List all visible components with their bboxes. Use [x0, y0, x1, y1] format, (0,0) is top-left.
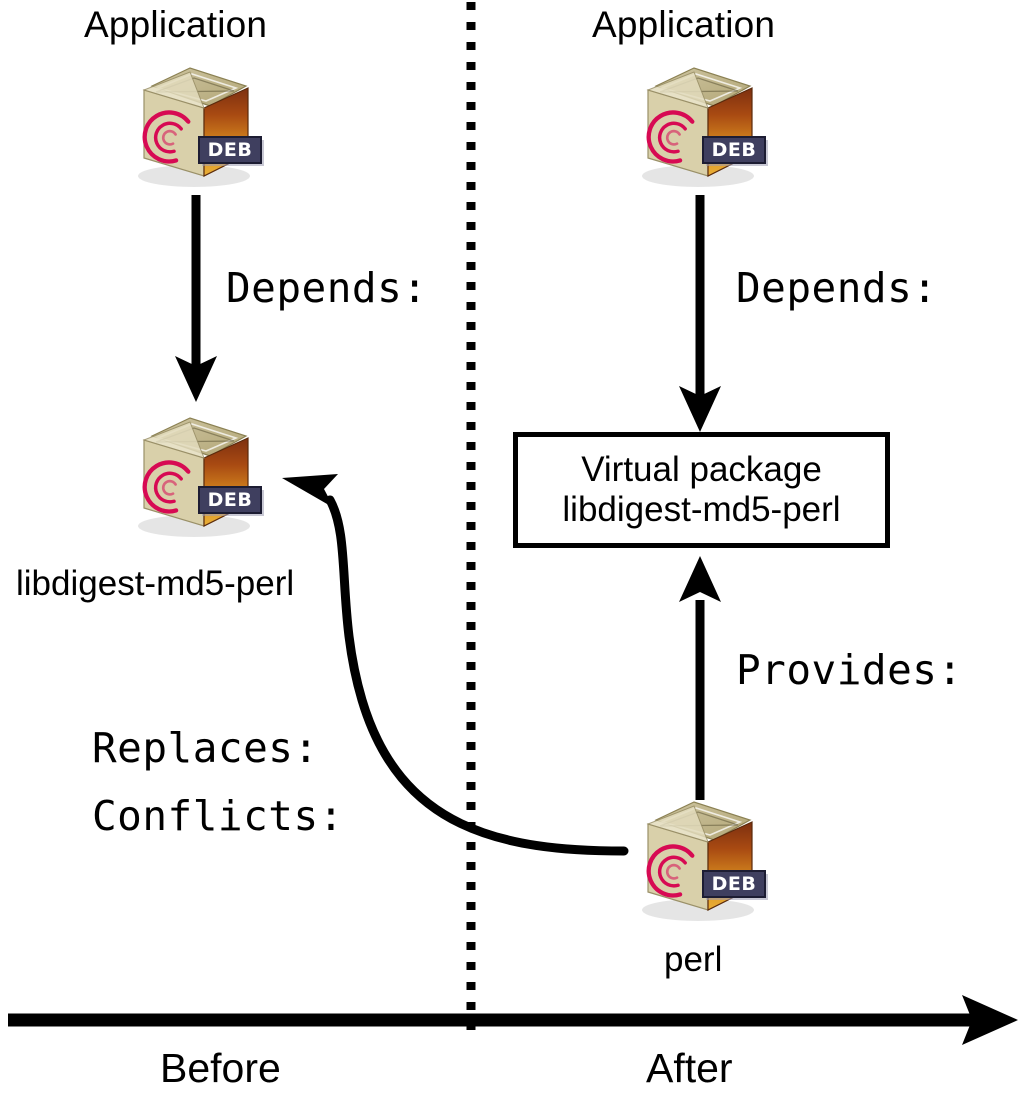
- conflicts-label: Conflicts:: [92, 796, 344, 837]
- libdigest-md5-perl-package-icon: [138, 418, 264, 537]
- before-column-heading: Application: [84, 6, 267, 43]
- timeline-axis: [8, 995, 1018, 1045]
- perl-package-label: perl: [664, 942, 722, 977]
- after-depends-arrow: [679, 195, 721, 432]
- app-package-icon-after: [642, 68, 768, 187]
- provides-label: Provides:: [736, 650, 963, 691]
- app-package-icon-before: [138, 68, 264, 187]
- provides-arrow: [679, 556, 721, 800]
- perl-package-icon: [642, 802, 768, 921]
- axis-label-after: After: [646, 1048, 733, 1089]
- before-depends-label: Depends:: [226, 268, 427, 309]
- after-depends-label: Depends:: [736, 268, 937, 309]
- before-depends-arrow: [175, 195, 217, 402]
- replaces-label: Replaces:: [92, 728, 319, 769]
- virtual-package-line2: libdigest-md5-perl: [562, 490, 840, 530]
- virtual-package-box: Virtual package libdigest-md5-perl: [513, 432, 890, 548]
- diagram-canvas: DEB: [0, 0, 1024, 1094]
- axis-label-before: Before: [160, 1048, 281, 1089]
- virtual-package-line1: Virtual package: [581, 450, 822, 490]
- after-column-heading: Application: [592, 6, 775, 43]
- libdigest-md5-perl-label: libdigest-md5-perl: [16, 566, 294, 601]
